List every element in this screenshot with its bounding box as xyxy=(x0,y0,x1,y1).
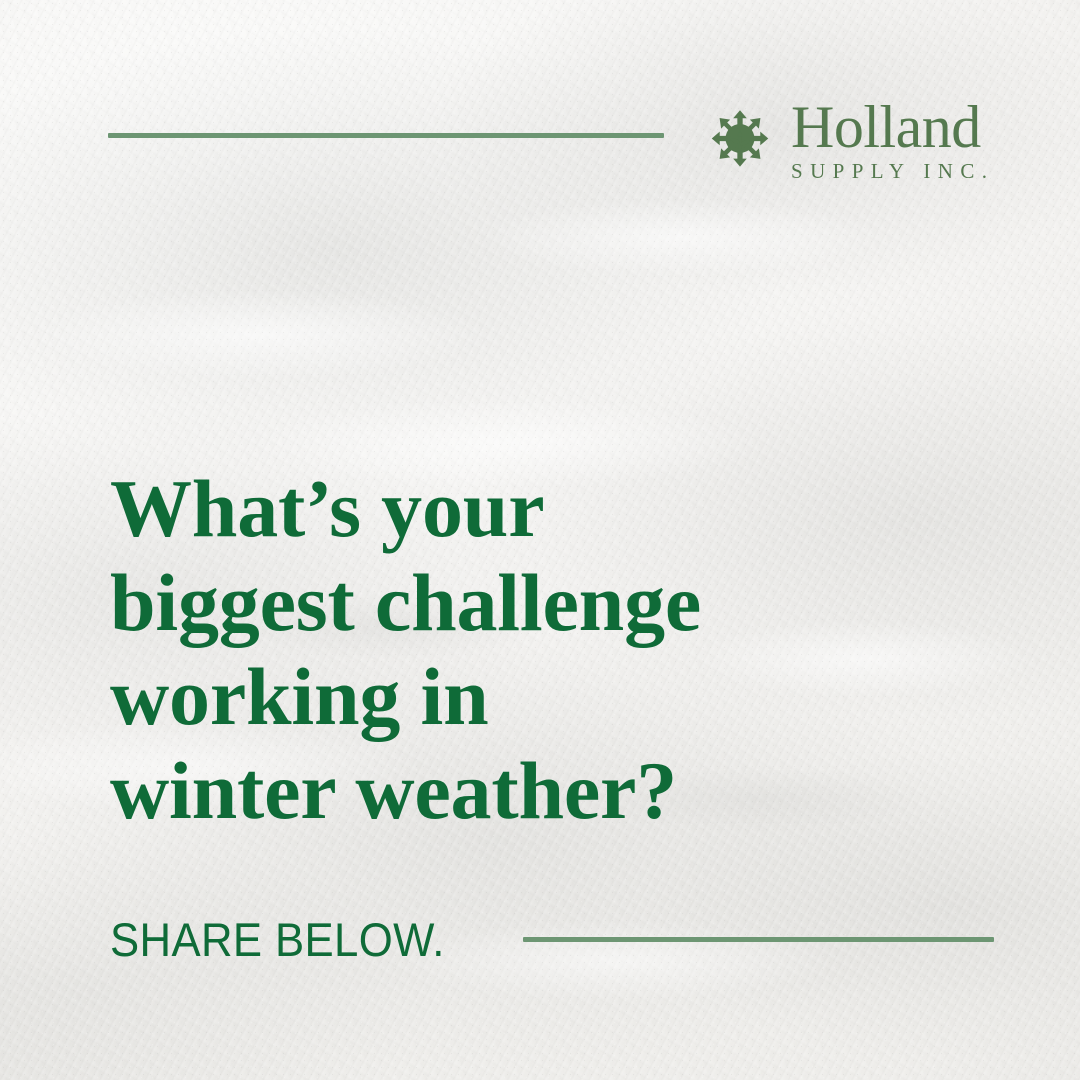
post-content: Holland SUPPLY INC. What’s your biggest … xyxy=(0,0,1080,1080)
share-below-label: SHARE BELOW. xyxy=(110,916,445,963)
gear-sprout-icon xyxy=(703,104,777,178)
brand-logo: Holland SUPPLY INC. xyxy=(703,101,996,182)
brand-name: Holland xyxy=(791,103,996,152)
brand-wordmark: Holland SUPPLY INC. xyxy=(791,101,996,182)
headline-line-3: working in xyxy=(110,650,940,744)
headline: What’s your biggest challenge working in… xyxy=(110,462,940,838)
headline-line-2: biggest challenge xyxy=(110,556,940,650)
brand-tagline: SUPPLY INC. xyxy=(791,161,996,182)
bottom-divider xyxy=(523,937,994,942)
headline-line-4: winter weather? xyxy=(110,744,940,838)
social-post-canvas: Holland SUPPLY INC. What’s your biggest … xyxy=(0,0,1080,1080)
headline-line-1: What’s your xyxy=(110,462,940,556)
top-divider xyxy=(108,133,664,138)
share-row: SHARE BELOW. xyxy=(110,916,980,963)
